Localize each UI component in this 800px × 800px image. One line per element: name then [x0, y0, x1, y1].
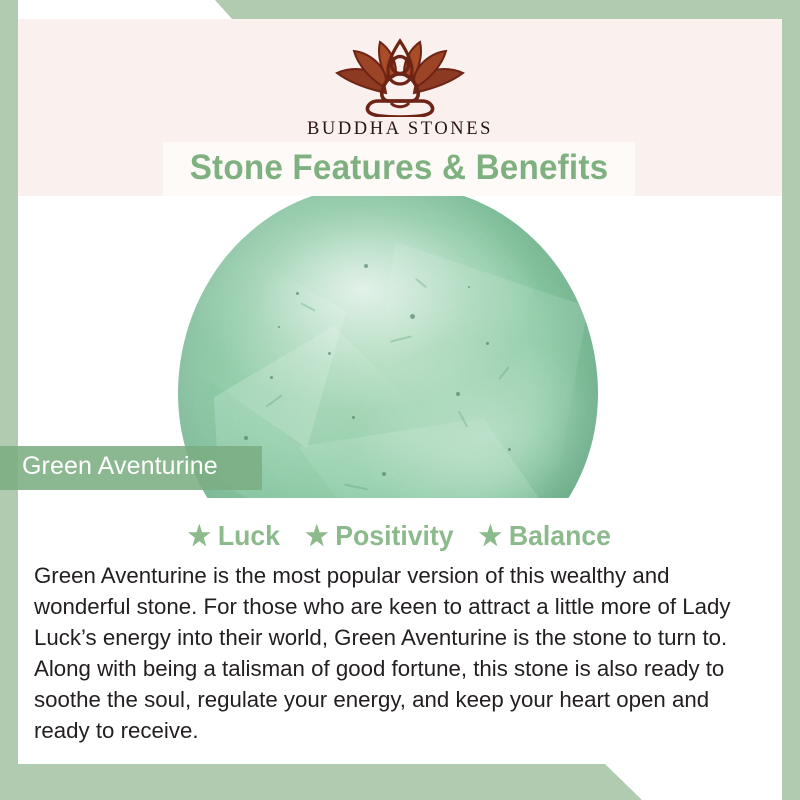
stone-facet [196, 258, 346, 448]
stone-speck [352, 416, 355, 419]
stone-speck [278, 326, 280, 328]
brand-wordmark: BUDDHA STONES [18, 119, 782, 140]
stone-streak [390, 335, 412, 342]
star-icon [188, 524, 212, 549]
star-icon [479, 524, 503, 549]
stone-facet [374, 242, 588, 492]
stone-speck [270, 376, 273, 379]
frame-accent-left [0, 0, 18, 800]
stone-speck [244, 436, 248, 440]
frame-accent-top [215, 0, 800, 19]
stone-info-poster: BUDDHA STONES Stone Features & Benefits [0, 0, 800, 800]
stone-facet [298, 418, 548, 498]
page-title: Stone Features & Benefits [175, 145, 623, 191]
stone-streak [344, 484, 368, 491]
keyword-label: Positivity [335, 520, 453, 552]
stone-speck [508, 448, 511, 451]
stone-speck [468, 286, 470, 288]
stone-name: Green Aventurine [22, 452, 218, 481]
brand-logo: BUDDHA STONES [18, 33, 782, 140]
lotus-meditating-figure-icon [312, 33, 488, 117]
stone-streak [300, 302, 315, 311]
stone-streak [498, 366, 509, 380]
stone-speck [364, 264, 368, 268]
keyword-item-positivity: Positivity [305, 520, 454, 552]
stone-speck [328, 352, 331, 355]
stone-streak [265, 394, 282, 407]
stone-speck [456, 392, 460, 396]
frame-accent-right [782, 0, 800, 800]
stone-description: Green Aventurine is the most popular ver… [34, 560, 761, 746]
frame-accent-bottom [0, 764, 642, 800]
keyword-list: Luck Positivity Balance [18, 520, 782, 552]
stone-speck [486, 342, 489, 345]
star-icon [305, 524, 329, 549]
stone-streak [415, 278, 427, 289]
keyword-item-balance: Balance [479, 520, 611, 552]
keyword-label: Balance [509, 520, 611, 552]
keyword-label: Luck [218, 520, 280, 552]
stone-streak [458, 411, 468, 428]
stone-speck [410, 314, 415, 319]
keyword-item-luck: Luck [188, 520, 280, 552]
stone-speck [382, 472, 386, 476]
stone-speck [296, 292, 299, 295]
